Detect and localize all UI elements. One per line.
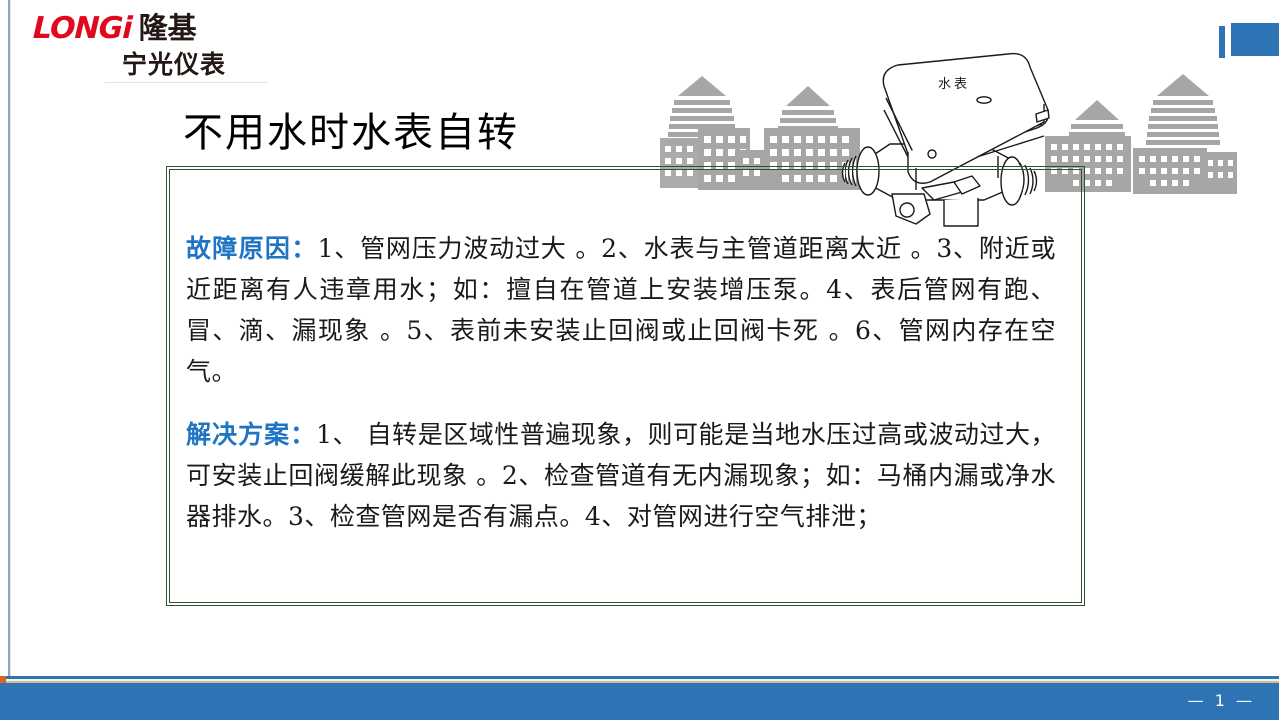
top-right-accent-block: [1231, 23, 1279, 56]
page-number: — 1 —: [1188, 691, 1255, 710]
logo-underline-divider: [105, 82, 268, 83]
company-logo: LONGi 隆基 宁光仪表: [33, 12, 233, 82]
paragraph-cause-lead: 故障原因：: [186, 234, 318, 263]
logo-chinese-wordmark: 隆基: [139, 12, 197, 44]
paragraph-solution-body: 1、 自转是区域性普遍现象，则可能是当地水压过高或波动过大，可安装止回阀缓解此现…: [186, 420, 1056, 531]
left-accent-rule-secondary: [10, 0, 11, 676]
top-right-accent-bar: [1219, 26, 1225, 58]
paragraph-solution: 解决方案：1、 自转是区域性普遍现象，则可能是当地水压过高或波动过大，可安装止回…: [186, 414, 1056, 537]
page-title: 不用水时水表自转: [183, 109, 519, 157]
content-body: 故障原因：1、管网压力波动过大 。2、水表与主管道距离太近 。3、附近或近距离有…: [186, 228, 1056, 559]
meter-label-text: 水表: [938, 77, 970, 92]
logo-primary-row: LONGi 隆基: [33, 12, 233, 46]
footer-corner-tick: [0, 676, 6, 683]
logo-subtitle: 宁光仪表: [33, 45, 226, 81]
logo-latin-wordmark: LONGi: [32, 13, 132, 45]
paragraph-cause: 故障原因：1、管网压力波动过大 。2、水表与主管道距离太近 。3、附近或近距离有…: [186, 228, 1056, 392]
paragraph-solution-lead: 解决方案：: [186, 420, 316, 449]
footer-bar: [0, 683, 1279, 720]
slide-canvas: LONGi 隆基 宁光仪表 不用水时水表自转: [0, 0, 1279, 720]
